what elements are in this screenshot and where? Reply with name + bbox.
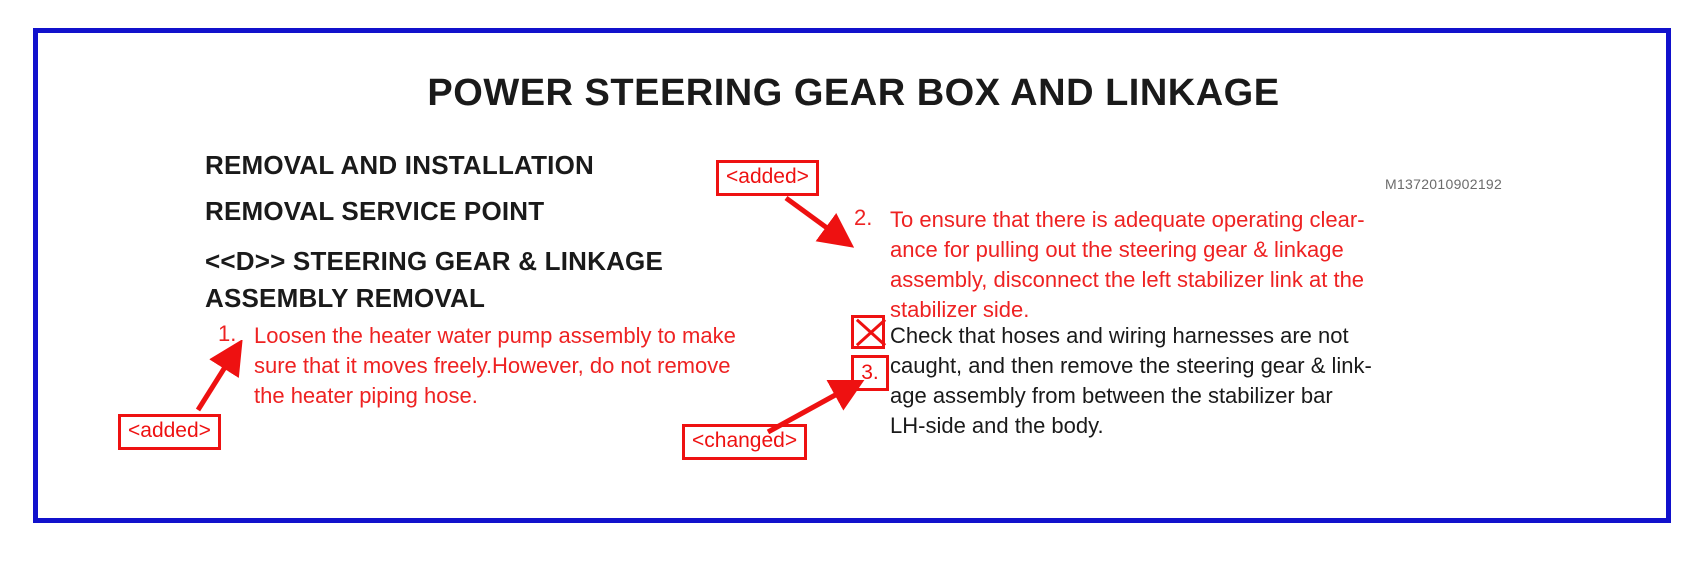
item-3-line: caught, and then remove the steering gea…	[890, 351, 1590, 381]
item-3-line: age assembly from between the stabilizer…	[890, 381, 1590, 411]
procedure-item-3: Check that hoses and wiring harnesses ar…	[890, 321, 1590, 441]
item-1-line: sure that it moves freely.However, do no…	[254, 351, 778, 381]
reference-code: M1372010902192	[1385, 176, 1502, 192]
item-1-body: Loosen the heater water pump assembly to…	[254, 321, 778, 411]
item-1-line: Loosen the heater water pump assembly to…	[254, 321, 778, 351]
deleted-number-box	[851, 315, 885, 349]
item-3-body: Check that hoses and wiring harnesses ar…	[890, 321, 1590, 441]
item-1-line: the heater piping hose.	[254, 381, 778, 411]
heading-removal-service-point: REMOVAL SERVICE POINT	[205, 196, 544, 227]
heading-steering-gear-linkage: <<D>> STEERING GEAR & LINKAGE	[205, 246, 663, 277]
callout-added-top: <added>	[716, 160, 819, 196]
procedure-item-2: 2. To ensure that there is adequate oper…	[854, 205, 1534, 325]
arrow-added-to-item2-icon	[780, 192, 870, 254]
item-3-line: Check that hoses and wiring harnesses ar…	[890, 321, 1590, 351]
item-2-body: To ensure that there is adequate operati…	[890, 205, 1534, 325]
page-title: POWER STEERING GEAR BOX AND LINKAGE	[0, 72, 1707, 115]
document-page: POWER STEERING GEAR BOX AND LINKAGE M137…	[0, 0, 1707, 574]
heading-removal-and-installation: REMOVAL AND INSTALLATION	[205, 150, 594, 181]
item-3-line: LH-side and the body.	[890, 411, 1590, 441]
item-2-line: assembly, disconnect the left stabilizer…	[890, 265, 1534, 295]
arrow-added-to-item1-icon	[186, 340, 256, 420]
item-2-line: ance for pulling out the steering gear &…	[890, 235, 1534, 265]
item-2-line: To ensure that there is adequate operati…	[890, 205, 1534, 235]
procedure-item-1: 1. Loosen the heater water pump assembly…	[218, 321, 778, 411]
heading-assembly-removal: ASSEMBLY REMOVAL	[205, 283, 485, 314]
arrow-changed-to-number-icon	[760, 380, 870, 440]
